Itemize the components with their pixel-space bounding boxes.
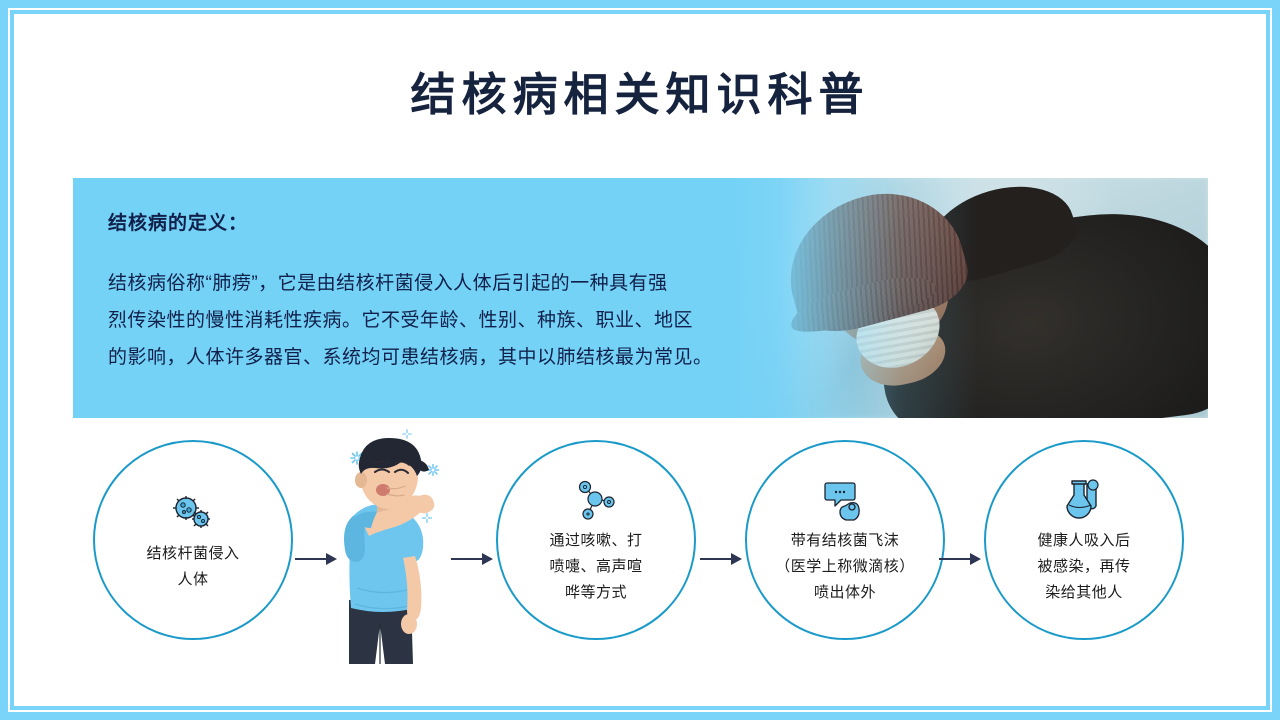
flow-arrow-3 xyxy=(700,553,742,565)
definition-line-3: 的影响，人体许多器官、系统均可患结核病，其中以肺结核最为常见。 xyxy=(108,339,878,376)
flow-step-4-line-1: 健康人吸入后 xyxy=(1002,528,1167,554)
flask-icon xyxy=(1063,474,1105,526)
bacteria-icon xyxy=(169,487,217,539)
flow-step-1-line-2: 人体 xyxy=(111,567,276,593)
definition-text-block: 结核病的定义： 结核病俗称“肺痨”，它是由结核杆菌侵入人体后引起的一种具有强 烈… xyxy=(108,208,878,376)
flow-step-2-line-1: 通过咳嗽、打 xyxy=(514,528,679,554)
flow-step-3-line-2: （医学上称微滴核） xyxy=(763,554,928,580)
arrow-head xyxy=(731,553,742,565)
definition-heading: 结核病的定义： xyxy=(108,208,878,235)
speech-bubble-person-icon xyxy=(821,474,869,526)
arrow-shaft xyxy=(451,558,483,560)
flow-step-4-line-3: 染给其他人 xyxy=(1002,580,1167,606)
flow-step-3[interactable]: 带有结核菌飞沫 （医学上称微滴核） 喷出体外 xyxy=(745,440,945,640)
flow-step-1-label: 结核杆菌侵入 人体 xyxy=(111,541,276,593)
flow-step-2-line-2: 喷嚏、高声喧 xyxy=(514,554,679,580)
flow-step-4-label: 健康人吸入后 被感染，再传 染给其他人 xyxy=(1002,528,1167,606)
definition-line-1: 结核病俗称“肺痨”，它是由结核杆菌侵入人体后引起的一种具有强 xyxy=(108,265,878,302)
transmission-flow-diagram: 结核杆菌侵入 人体 xyxy=(73,440,1208,670)
flow-arrow-2 xyxy=(451,553,493,565)
arrow-shaft xyxy=(939,558,971,560)
arrow-head xyxy=(482,553,493,565)
definition-line-2: 烈传染性的慢性消耗性疾病。它不受年龄、性别、种族、职业、地区 xyxy=(108,302,878,339)
flow-step-1-line-1: 结核杆菌侵入 xyxy=(111,541,276,567)
slide-root: 结核病相关知识科普 结核病的定义： 结核病俗称“肺痨”，它是由结核杆菌侵入人体后… xyxy=(0,0,1280,720)
flow-step-4[interactable]: 健康人吸入后 被感染，再传 染给其他人 xyxy=(984,440,1184,640)
flow-arrow-4 xyxy=(939,553,981,565)
arrow-head xyxy=(970,553,981,565)
flow-step-3-line-3: 喷出体外 xyxy=(763,580,928,606)
definition-panel: 结核病的定义： 结核病俗称“肺痨”，它是由结核杆菌侵入人体后引起的一种具有强 烈… xyxy=(73,178,1208,418)
flow-step-3-line-1: 带有结核菌飞沫 xyxy=(763,528,928,554)
flow-step-2[interactable]: 通过咳嗽、打 喷嚏、高声喧 哗等方式 xyxy=(496,440,696,640)
droplet-molecule-icon xyxy=(573,474,619,526)
arrow-shaft xyxy=(700,558,732,560)
flow-step-3-label: 带有结核菌飞沫 （医学上称微滴核） 喷出体外 xyxy=(763,528,928,606)
flow-step-2-label: 通过咳嗽、打 喷嚏、高声喧 哗等方式 xyxy=(514,528,679,606)
flow-step-1[interactable]: 结核杆菌侵入 人体 xyxy=(93,440,293,640)
flow-step-2-line-3: 哗等方式 xyxy=(514,580,679,606)
page-title: 结核病相关知识科普 xyxy=(0,58,1280,123)
flow-step-4-line-2: 被感染，再传 xyxy=(1002,554,1167,580)
coughing-man-illustration xyxy=(323,428,473,668)
